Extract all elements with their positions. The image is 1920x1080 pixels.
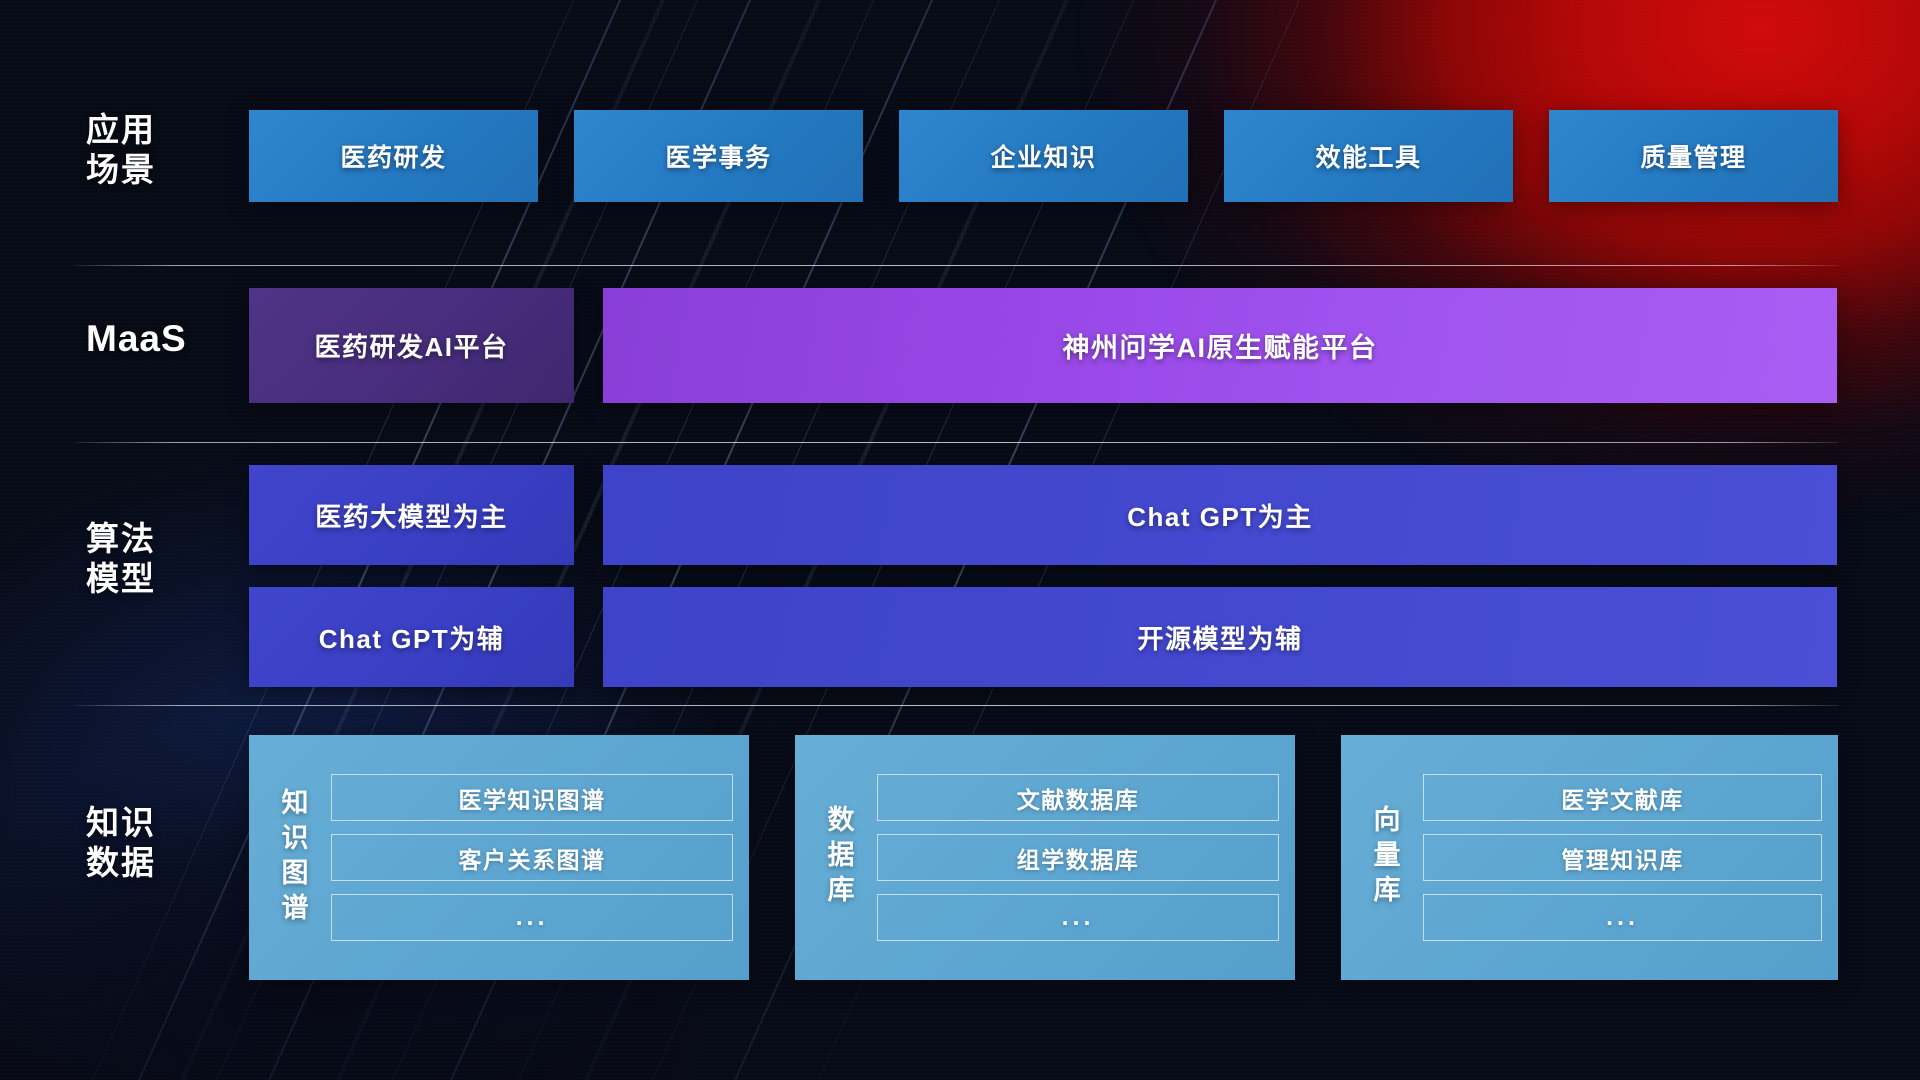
divider-applications-maas [75,265,1838,266]
algo-card-opensource-secondary[interactable]: 开源模型为辅 [603,587,1837,687]
maas-card-shenzhou-wenxue-platform[interactable]: 神州问学AI原生赋能平台 [603,288,1837,403]
divider-algorithms-knowledge [75,705,1838,706]
row-label-algorithms: 算法 模型 [86,519,216,600]
knowledge-item-more[interactable]: ... [1423,894,1822,941]
algo-card-pharma-llm-primary[interactable]: 医药大模型为主 [249,465,574,565]
row-label-applications: 应用 场景 [86,110,216,191]
knowledge-group-database[interactable]: 数据库 文献数据库 组学数据库 ... [795,735,1295,980]
app-card-quality-management[interactable]: 质量管理 [1549,110,1838,202]
knowledge-item-more[interactable]: ... [331,894,733,941]
app-card-efficiency-tools[interactable]: 效能工具 [1224,110,1513,202]
app-card-label: 医学事务 [665,138,771,174]
knowledge-group-title: 向量库 [1353,749,1415,966]
app-card-label: 企业知识 [990,138,1096,174]
app-card-medical-affairs[interactable]: 医学事务 [574,110,863,202]
app-card-label: 医药研发 [340,138,446,174]
knowledge-group-graph[interactable]: 知识图谱 医学知识图谱 客户关系图谱 ... [249,735,749,980]
knowledge-group-title: 知识图谱 [261,749,323,966]
row-label-knowledge: 知识 数据 [86,803,216,884]
knowledge-group-title: 数据库 [807,749,869,966]
app-card-label: 效能工具 [1315,138,1421,174]
knowledge-item-list: 文献数据库 组学数据库 ... [869,749,1279,966]
knowledge-item[interactable]: 医学知识图谱 [331,774,733,821]
knowledge-item-list: 医学知识图谱 客户关系图谱 ... [323,749,733,966]
knowledge-item-list: 医学文献库 管理知识库 ... [1415,749,1822,966]
row-knowledge: 知识 数据 知识图谱 医学知识图谱 客户关系图谱 ... 数据库 文献数据库 组… [0,735,1920,980]
algo-card-chatgpt-secondary[interactable]: Chat GPT为辅 [249,587,574,687]
knowledge-item[interactable]: 医学文献库 [1423,774,1822,821]
knowledge-item-more[interactable]: ... [877,894,1279,941]
algo-card-label: Chat GPT为辅 [319,619,504,656]
maas-card-label: 神州问学AI原生赋能平台 [1063,326,1378,365]
row-applications: 应用 场景 医药研发 医学事务 企业知识 效能工具 质量管理 [0,110,1920,202]
knowledge-group-vector-store[interactable]: 向量库 医学文献库 管理知识库 ... [1341,735,1838,980]
app-card-drug-rd[interactable]: 医药研发 [249,110,538,202]
algo-card-label: Chat GPT为主 [1127,497,1312,534]
algo-card-label: 医药大模型为主 [315,497,508,534]
knowledge-item[interactable]: 组学数据库 [877,834,1279,881]
row-maas: MaaS 医药研发AI平台 神州问学AI原生赋能平台 [0,288,1920,403]
app-card-enterprise-knowledge[interactable]: 企业知识 [899,110,1188,202]
row-label-maas: MaaS [86,316,216,361]
row-algorithms: 算法 模型 医药大模型为主 Chat GPT为主 Chat GPT为辅 开源模型… [0,465,1920,687]
algo-card-label: 开源模型为辅 [1137,619,1302,656]
knowledge-item[interactable]: 管理知识库 [1423,834,1822,881]
divider-maas-algorithms [75,442,1838,443]
app-card-label: 质量管理 [1640,138,1746,174]
maas-card-drug-rd-ai-platform[interactable]: 医药研发AI平台 [249,288,574,403]
knowledge-item[interactable]: 文献数据库 [877,774,1279,821]
maas-card-label: 医药研发AI平台 [314,327,508,364]
knowledge-item[interactable]: 客户关系图谱 [331,834,733,881]
algo-card-chatgpt-primary[interactable]: Chat GPT为主 [603,465,1837,565]
